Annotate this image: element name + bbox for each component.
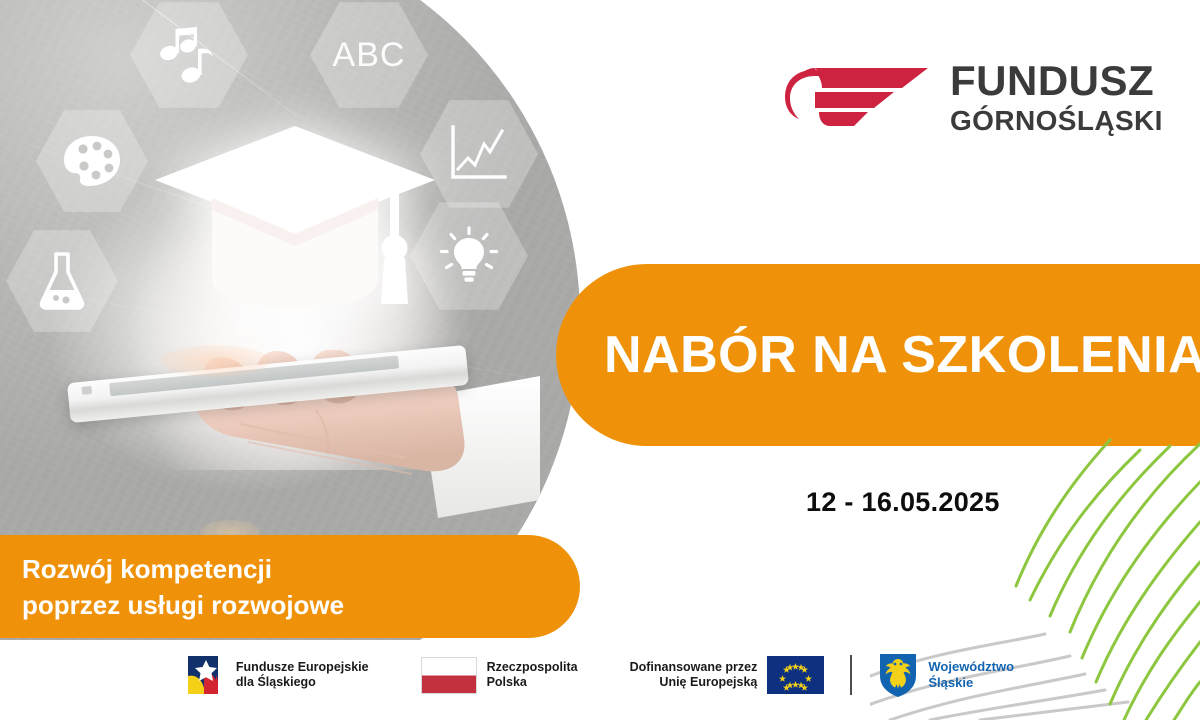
line-chart-icon — [449, 125, 509, 183]
abc-letters-icon: ABC — [333, 36, 406, 75]
caption-line-2: Unię Europejską — [630, 675, 758, 690]
caption-line-2: dla Śląskiego — [236, 675, 369, 690]
subtitle-banner: Rozwój kompetencji poprzez usługi rozwoj… — [0, 535, 580, 638]
lens-flare — [160, 345, 270, 377]
hex-tile-music — [130, 0, 248, 110]
flask-icon — [39, 252, 85, 310]
hex-tile-abc: ABC — [310, 0, 428, 110]
slaskie-coat-of-arms-icon — [878, 652, 918, 698]
music-notes-icon — [158, 27, 220, 83]
caption-line-2: Polska — [487, 675, 578, 690]
hex-tile-palette — [36, 108, 148, 214]
unia-europejska-caption: Dofinansowane przez Unię Europejską — [630, 660, 758, 690]
unia-europejska-logo-block: Dofinansowane przez Unię Europejską — [630, 656, 825, 694]
brand-subtitle: GÓRNOŚLĄSKI — [950, 107, 1163, 135]
rzeczpospolita-polska-logo-block: Rzeczpospolita Polska — [421, 657, 578, 694]
wojewodztwo-slaskie-caption: Województwo Śląskie — [928, 659, 1014, 691]
caption-line-1: Fundusze Europejskie — [236, 660, 369, 675]
caption-line-2: Śląskie — [928, 675, 1014, 691]
caption-line-1: Rzeczpospolita — [487, 660, 578, 675]
headline-banner: NABÓR NA SZKOLENIA — [556, 264, 1200, 446]
paint-palette-icon — [62, 134, 122, 188]
headline-text: NABÓR NA SZKOLENIA — [604, 325, 1200, 385]
poland-flag-icon — [421, 657, 477, 694]
hex-tile-flask — [6, 228, 118, 334]
fundusz-gornoslaski-eagle-logo — [782, 52, 932, 142]
subtitle-line-2: poprzez usługi rozwojowe — [22, 587, 580, 623]
caption-line-1: Województwo — [928, 659, 1014, 675]
rzeczpospolita-polska-caption: Rzeczpospolita Polska — [487, 660, 578, 690]
footer-divider — [850, 655, 852, 695]
fundusze-europejskie-logo — [186, 654, 226, 696]
phone-camera — [81, 386, 92, 395]
subtitle-line-1: Rozwój kompetencji — [22, 551, 580, 587]
caption-line-1: Dofinansowane przez — [630, 660, 758, 675]
promotional-banner: ABC — [0, 0, 1200, 720]
graduation-cap-icon — [150, 118, 440, 348]
funding-logos-footer: Fundusze Europejskie dla Śląskiego Rzecz… — [0, 644, 1200, 706]
wojewodztwo-slaskie-logo-block: Województwo Śląskie — [878, 652, 1014, 698]
brand-logo: FUNDUSZ GÓRNOŚLĄSKI — [782, 52, 1163, 142]
brand-title: FUNDUSZ — [950, 60, 1163, 102]
eu-flag-icon — [767, 656, 824, 694]
fundusze-europejskie-logo-block: Fundusze Europejskie dla Śląskiego — [186, 654, 369, 696]
lightbulb-icon — [438, 226, 500, 286]
fundusze-europejskie-caption: Fundusze Europejskie dla Śląskiego — [236, 660, 369, 690]
